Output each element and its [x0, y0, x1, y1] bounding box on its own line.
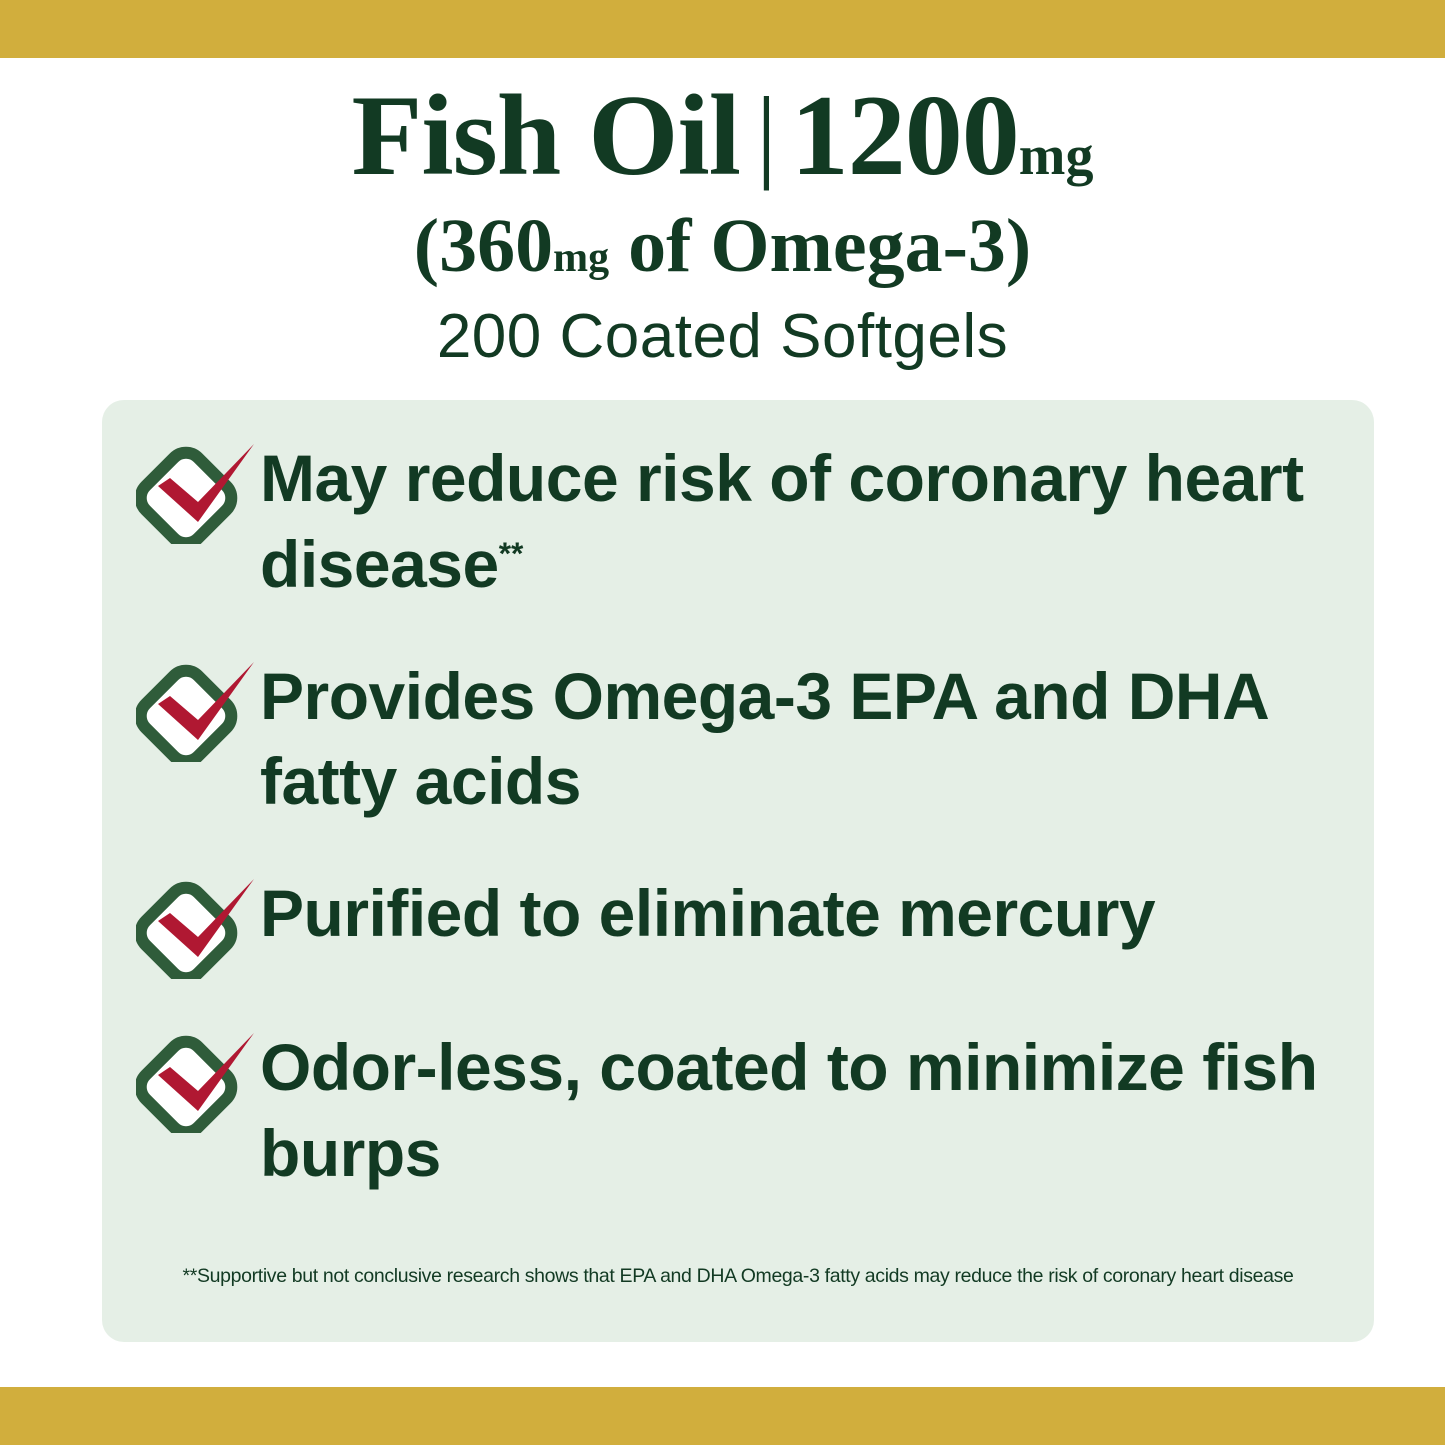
omega-subtitle: (360mg of Omega-3)	[0, 208, 1445, 284]
checkmark-box-icon	[136, 658, 260, 762]
product-header: Fish Oil|1200mg (360mg of Omega-3) 200 C…	[0, 78, 1445, 368]
product-title-line: Fish Oil|1200mg	[0, 78, 1445, 194]
checkmark-box-icon	[136, 440, 260, 544]
list-item: Purified to eliminate mercury	[136, 869, 1334, 979]
list-item-label: May reduce risk of coronary heart diseas…	[260, 434, 1320, 608]
checkmark-box-icon	[136, 1029, 260, 1133]
list-item: Odor-less, coated to minimize fish burps	[136, 1023, 1334, 1197]
omega-prefix: (360	[414, 204, 553, 288]
benefits-list: May reduce risk of coronary heart diseas…	[136, 434, 1334, 1197]
omega-unit: mg	[553, 235, 609, 281]
strength-unit: mg	[1019, 125, 1094, 187]
footnote-marker: **	[499, 535, 524, 571]
disclaimer-footnote: **Supportive but not conclusive research…	[136, 1265, 1340, 1288]
top-gold-bar	[0, 0, 1445, 58]
title-divider: |	[756, 76, 777, 191]
bottom-gold-bar	[0, 1387, 1445, 1445]
list-item: May reduce risk of coronary heart diseas…	[136, 434, 1334, 608]
list-item: Provides Omega-3 EPA and DHA fatty acids	[136, 652, 1334, 826]
list-item-label: Purified to eliminate mercury	[260, 869, 1155, 957]
checkmark-box-icon	[136, 875, 260, 979]
product-name: Fish Oil	[352, 72, 740, 200]
list-item-label: Provides Omega-3 EPA and DHA fatty acids	[260, 652, 1320, 826]
list-item-label: Odor-less, coated to minimize fish burps	[260, 1023, 1320, 1197]
omega-suffix: of Omega-3)	[609, 204, 1031, 288]
softgel-count: 200 Coated Softgels	[0, 306, 1445, 368]
strength-value: 1200	[791, 72, 1019, 200]
benefits-panel: May reduce risk of coronary heart diseas…	[102, 400, 1374, 1342]
